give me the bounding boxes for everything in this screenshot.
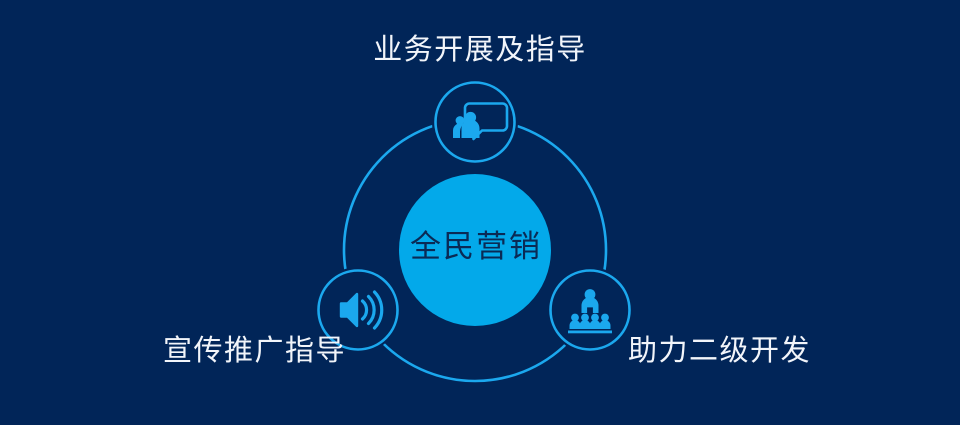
node-top[interactable] — [436, 83, 515, 162]
slide-canvas: 全民营销 业务开展及指导 宣传推广指导 助力二级开发 — [0, 0, 960, 425]
node-top-label: 业务开展及指导 — [0, 36, 960, 65]
node-right-circle — [551, 271, 630, 350]
node-right[interactable] — [551, 271, 630, 350]
node-left-label: 宣传推广指导 — [163, 337, 346, 366]
center-hub-label: 全民营销 — [400, 231, 552, 262]
node-right-label: 助力二级开发 — [628, 337, 811, 366]
